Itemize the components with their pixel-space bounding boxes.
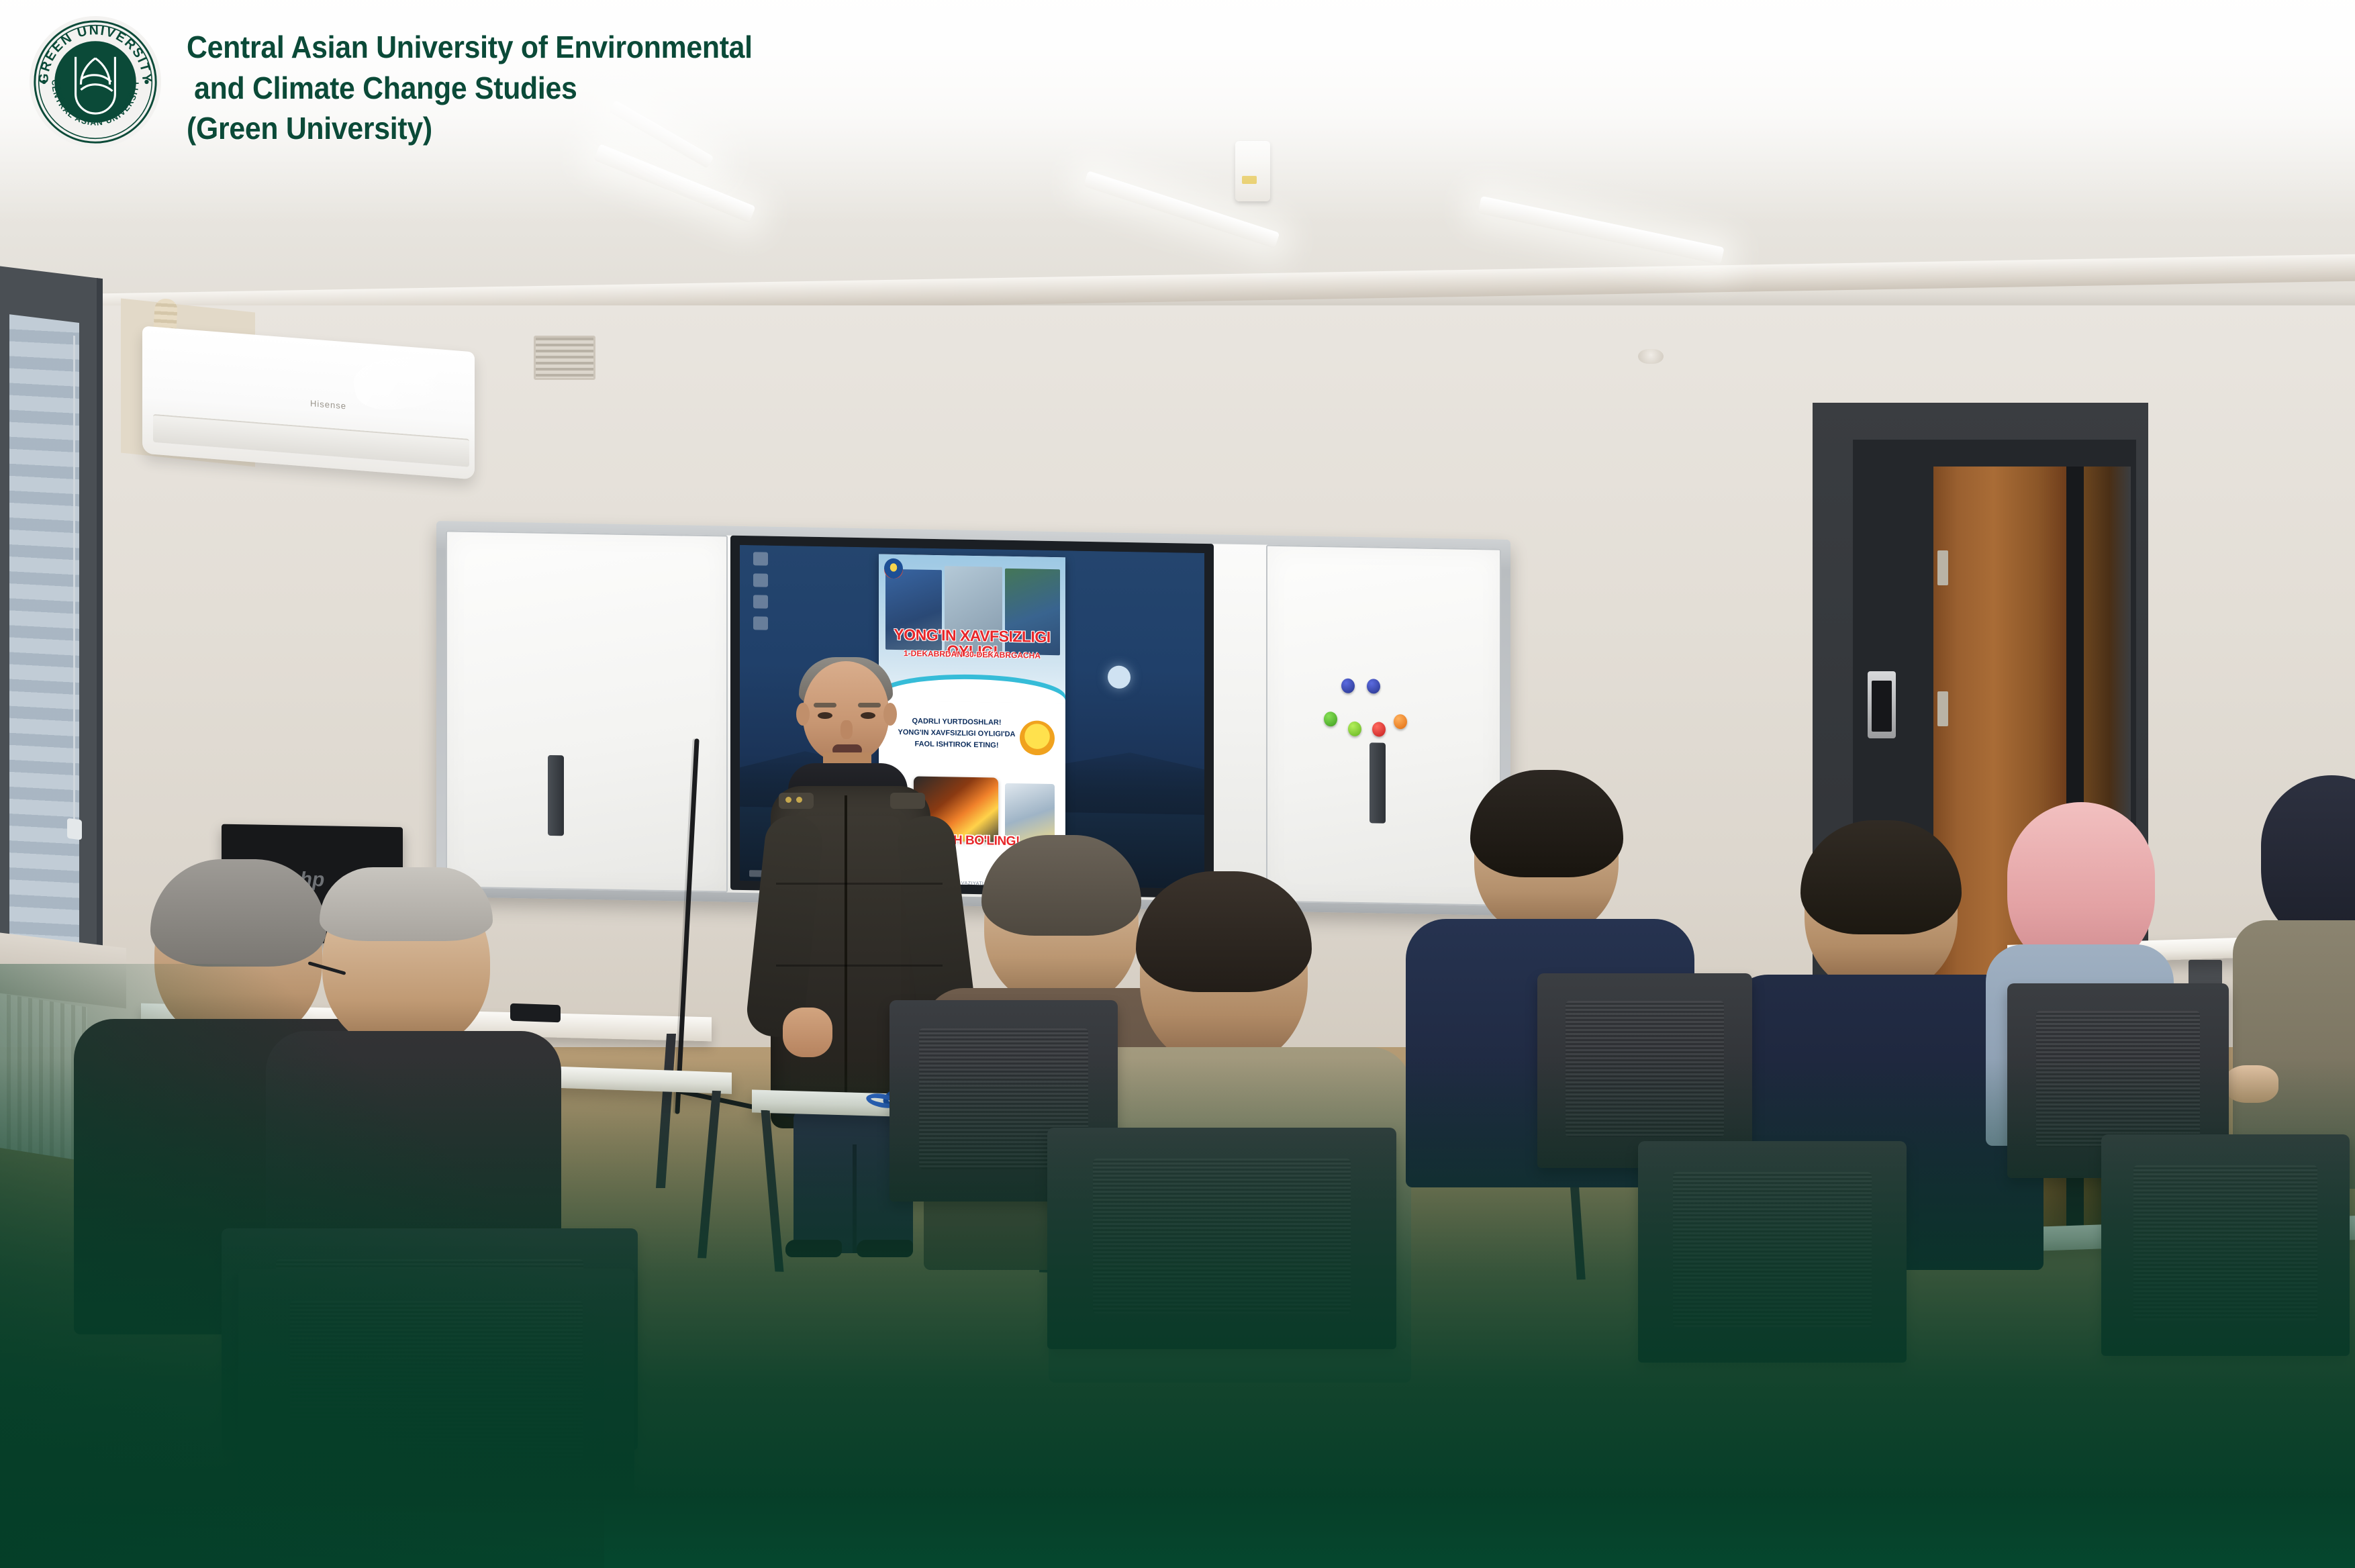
wall-vent [534,336,595,380]
window [0,265,103,957]
presenter-epaulette [890,793,925,809]
presenter-shoe [785,1240,842,1257]
chair[interactable] [1638,1141,1907,1363]
desktop-icon[interactable] [753,616,768,630]
presenter-jacket-zip [845,795,847,1111]
chair[interactable] [2101,1134,2350,1356]
brand-header: GREEN UNIVERSITY CENTRAL ASIAN UNIVERSIT… [0,0,2355,168]
title-line-1: Central Asian University of Environmenta… [187,27,753,68]
attendee-hair [320,867,493,941]
attendee-hand [2225,1065,2278,1103]
chair[interactable] [1537,973,1752,1168]
university-title-block: Central Asian University of Environmenta… [187,16,795,149]
attendee-hair [1136,871,1312,992]
chair-mesh [1093,1159,1351,1314]
presenter-jacket-seam [776,965,943,967]
presenter-hand-left [783,1008,832,1057]
poster-photo-training [1005,783,1055,842]
presenter-shoe [857,1240,913,1257]
door-hinge [1937,550,1948,585]
blind-cord[interactable] [73,336,75,826]
magnet-icon[interactable] [1367,679,1380,693]
attendee-dark-hijab [2242,775,2355,1191]
presenter-ear [796,703,810,726]
chair-mesh [1566,1001,1725,1137]
screenshot-root: Hisense [0,0,2355,1568]
presenter-jacket-seam [776,883,943,885]
magnet-icon[interactable] [1341,679,1355,693]
ac-gloss [350,352,452,414]
presenter-brow [858,703,881,707]
window-blinds [9,314,79,943]
ac-brand-label: Hisense [310,398,346,411]
chair[interactable] [1047,1128,1396,1349]
presenter-eye [818,712,832,719]
ministry-emblem-icon [884,558,903,579]
magnet-icon[interactable] [1394,714,1407,729]
blind-knob[interactable] [67,818,82,840]
classroom-photo: Hisense [0,0,2355,1568]
card-reader-icon[interactable] [1868,671,1896,738]
desktop-icon[interactable] [753,595,768,608]
door-hinge [1937,691,1948,726]
chair-mesh [2036,1011,2200,1147]
presenter-brow [814,703,836,707]
air-conditioner: Hisense [142,326,475,480]
attendee-hair [1800,820,1962,934]
hijab-dark [2261,775,2355,943]
desktop-icon[interactable] [753,552,768,565]
presenter-ear [883,703,897,726]
chair[interactable] [238,1269,634,1497]
magnet-icon[interactable] [1348,722,1361,736]
desktop-icons[interactable] [749,552,810,639]
desktop-icon[interactable] [753,573,768,587]
title-line-3: (Green University) [187,108,753,149]
whiteboard-handle[interactable] [1369,742,1386,823]
magnet-icon[interactable] [1372,722,1386,736]
university-seal-icon: GREEN UNIVERSITY CENTRAL ASIAN UNIVERSIT… [30,16,161,148]
chair-mesh [1673,1172,1872,1327]
title-line-2: and Climate Change Studies [187,68,753,109]
chair-mesh [290,1301,583,1461]
presenter-eye [861,712,875,719]
smoke-detector-icon [1638,349,1664,364]
chair-mesh [2133,1165,2317,1320]
presenter-nose [840,720,853,739]
presenter-rank-star [796,797,802,803]
whiteboard-panel-left[interactable] [446,530,728,892]
presenter-trouser-split [853,1144,857,1253]
whiteboard-magnets [1318,671,1419,754]
presenter-rank-star [785,797,791,803]
magnet-icon[interactable] [1324,712,1337,726]
whiteboard-handle[interactable] [548,755,564,836]
desktop-wallpaper-moon [1108,665,1131,689]
poster-badge-icon [1020,720,1055,756]
attendee-hair [1470,770,1623,877]
green-university-logo: GREEN UNIVERSITY CENTRAL ASIAN UNIVERSIT… [30,16,161,148]
